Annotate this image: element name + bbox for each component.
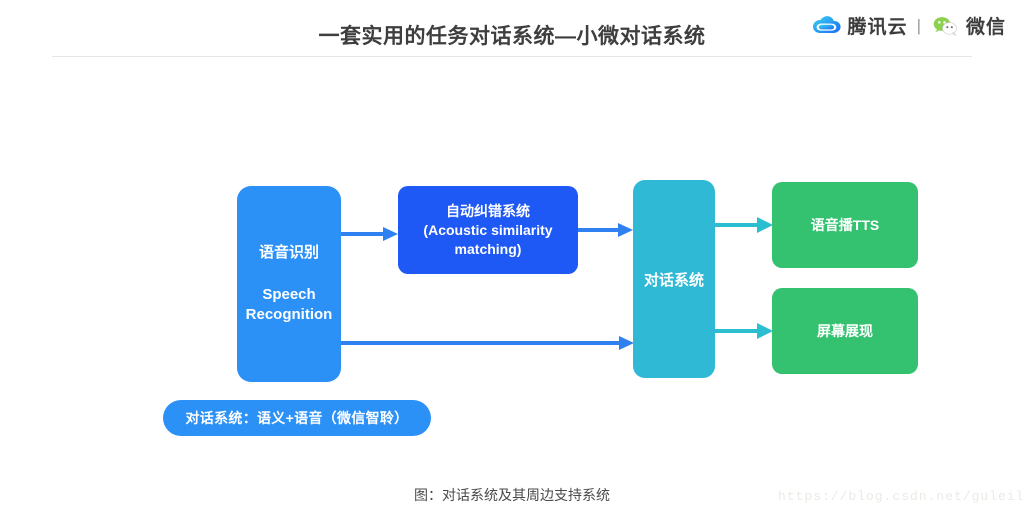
node-screen-display-label: 屏幕展现 xyxy=(817,321,873,341)
arrow-auto-correction-to-dialogue-system xyxy=(578,218,636,242)
node-auto-correction-label-line3: matching) xyxy=(455,240,522,259)
node-speech-recognition[interactable]: 语音识别 Speech Recognition xyxy=(237,186,341,382)
node-speech-recognition-label-en-line2: Recognition xyxy=(246,305,333,325)
node-tts-label: 语音播TTS xyxy=(811,215,879,235)
arrow-dialogue-system-to-tts xyxy=(715,213,775,237)
node-auto-correction-label-line1: 自动纠错系统 xyxy=(446,202,530,221)
node-speech-recognition-label-cn: 语音识别 xyxy=(259,243,319,263)
node-bottom-label-text: 对话系统：语义+语音（微信智聆） xyxy=(186,408,409,428)
node-tts[interactable]: 语音播TTS xyxy=(772,182,918,268)
node-dialogue-system[interactable]: 对话系统 xyxy=(633,180,715,378)
watermark: https://blog.csdn.net/guleileo xyxy=(778,489,1024,504)
node-speech-recognition-label-en-line1: Speech xyxy=(262,285,315,305)
diagram-canvas: 语音识别 Speech Recognition 自动纠错系统 (Acoustic… xyxy=(0,0,1024,522)
node-auto-correction[interactable]: 自动纠错系统 (Acoustic similarity matching) xyxy=(398,186,578,274)
node-dialogue-system-label: 对话系统 xyxy=(644,269,704,290)
node-bottom-label[interactable]: 对话系统：语义+语音（微信智聆） xyxy=(163,400,431,436)
node-screen-display[interactable]: 屏幕展现 xyxy=(772,288,918,374)
arrow-dialogue-system-to-screen-display xyxy=(715,319,775,343)
arrow-speech-recognition-to-dialogue-system xyxy=(341,331,637,355)
node-auto-correction-label-line2: (Acoustic similarity xyxy=(423,221,552,240)
arrow-speech-recognition-to-auto-correction xyxy=(341,222,401,246)
